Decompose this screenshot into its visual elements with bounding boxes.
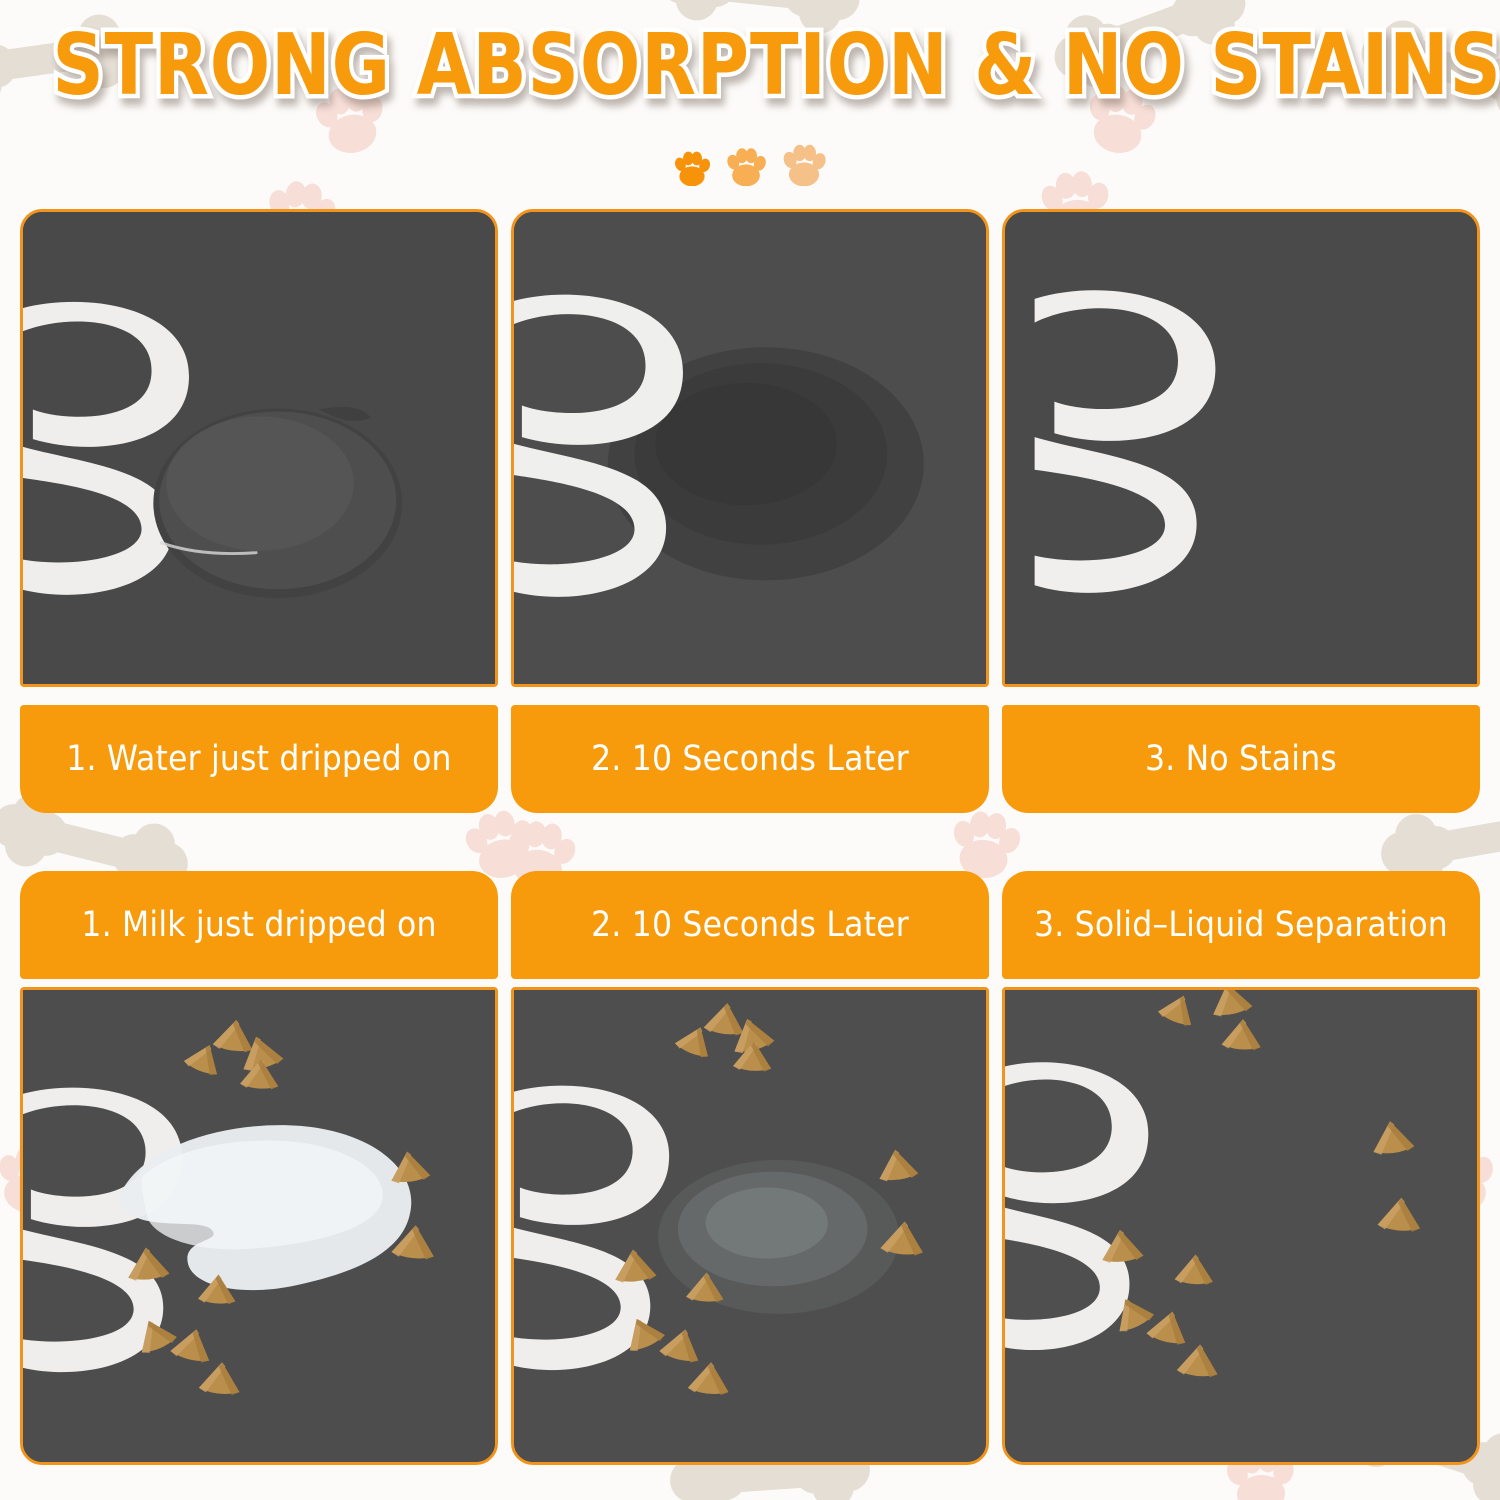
caption-text: 1. Milk just dripped on	[20, 905, 498, 945]
caption-text: 1. Water just dripped on	[20, 739, 498, 779]
caption-text: 2. 10 Seconds Later	[511, 905, 989, 945]
header: STRONG ABSORPTION & NO STAINS	[0, 0, 1500, 205]
caption-milk-2: 2. 10 Seconds Later	[511, 871, 989, 979]
caption-text: 3. No Stains	[1002, 739, 1480, 779]
paw-print-icon	[725, 142, 767, 186]
paw-print-icon	[781, 138, 827, 186]
paw-print-icon	[673, 146, 711, 186]
photo-panel-milk-1	[20, 987, 498, 1465]
caption-text: 3. Solid–Liquid Separation	[1002, 905, 1480, 945]
caption-text: 2. 10 Seconds Later	[511, 739, 989, 779]
page-title: STRONG ABSORPTION & NO STAINS	[53, 18, 1448, 114]
paw-divider	[0, 138, 1500, 186]
caption-water-1: 1. Water just dripped on	[20, 705, 498, 813]
photo-panel-milk-3	[1002, 987, 1480, 1465]
caption-milk-3: 3. Solid–Liquid Separation	[1002, 871, 1480, 979]
photo-panel-water-3	[1002, 209, 1480, 687]
caption-water-2: 2. 10 Seconds Later	[511, 705, 989, 813]
caption-water-3: 3. No Stains	[1002, 705, 1480, 813]
caption-milk-1: 1. Milk just dripped on	[20, 871, 498, 979]
photo-panel-water-2	[511, 209, 989, 687]
photo-panel-water-1	[20, 209, 498, 687]
comparison-grid: 1. Water just dripped on 2. 10 Seconds L…	[0, 0, 1500, 1500]
photo-panel-milk-2	[511, 987, 989, 1465]
